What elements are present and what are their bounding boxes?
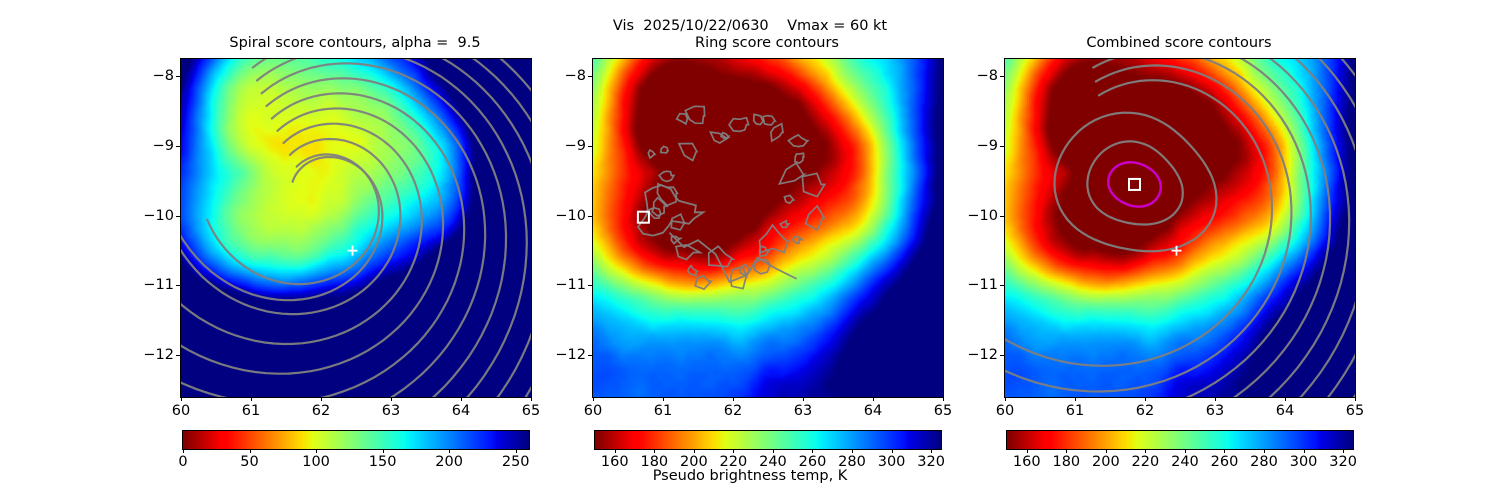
x-tick-label: 63 xyxy=(794,403,812,419)
x-tick-label: 64 xyxy=(1276,403,1294,419)
y-tick-label: −8 xyxy=(960,68,998,84)
y-tick-label: −10 xyxy=(960,208,998,224)
y-tick-label: −8 xyxy=(548,68,586,84)
contour-line xyxy=(1005,59,1330,397)
marker-plus xyxy=(348,246,358,256)
y-tick-mark xyxy=(1000,146,1004,147)
contour-line xyxy=(1005,59,1355,397)
x-tick-label: 63 xyxy=(1206,403,1224,419)
contour-line xyxy=(659,171,674,181)
x-tick-mark xyxy=(663,397,664,401)
x-tick-mark xyxy=(1215,397,1216,401)
x-tick-mark xyxy=(943,397,944,401)
colorbar-combined[interactable] xyxy=(1006,430,1354,450)
contour-line xyxy=(1005,59,1311,397)
contour-line xyxy=(792,237,802,244)
colorbar-tick-mark xyxy=(615,450,616,453)
x-tick-label: 65 xyxy=(934,403,952,419)
x-tick-label: 60 xyxy=(584,403,602,419)
x-tick-label: 61 xyxy=(654,403,672,419)
contour-line xyxy=(788,135,807,147)
colorbar-spiral[interactable] xyxy=(182,430,530,450)
y-tick-mark xyxy=(588,76,592,77)
contour-line xyxy=(648,150,655,158)
colorbar-tick-mark xyxy=(694,450,695,453)
y-tick-label: −11 xyxy=(136,277,174,293)
panel-spiral[interactable] xyxy=(180,58,532,398)
contour-line xyxy=(1005,65,1291,391)
colorbar-tick-mark xyxy=(852,450,853,453)
contour-line xyxy=(181,124,422,344)
y-tick-label: −9 xyxy=(960,138,998,154)
shared-colorbar-xlabel: Pseudo brightness temp, K xyxy=(0,468,1500,484)
contour-line xyxy=(754,114,764,124)
x-tick-label: 64 xyxy=(452,403,470,419)
contour-line xyxy=(784,195,793,203)
contour-line xyxy=(207,154,379,284)
colorbar-tick-mark xyxy=(654,450,655,453)
x-tick-label: 65 xyxy=(522,403,540,419)
contour-line xyxy=(661,147,668,154)
contour-line xyxy=(729,118,749,132)
y-tick-mark xyxy=(588,216,592,217)
x-tick-label: 61 xyxy=(1066,403,1084,419)
contour-line xyxy=(1055,113,1217,252)
figure-suptitle: Vis 2025/10/22/0630 Vmax = 60 kt xyxy=(0,18,1500,34)
colorbar-tick-mark xyxy=(250,450,251,453)
colorbar-tick-mark xyxy=(1343,450,1344,453)
y-tick-label: −8 xyxy=(136,68,174,84)
x-tick-mark xyxy=(251,397,252,401)
x-tick-mark xyxy=(1145,397,1146,401)
contour-line xyxy=(802,173,824,196)
x-tick-mark xyxy=(1285,397,1286,401)
contour-line xyxy=(676,245,700,260)
contour-line xyxy=(677,114,688,124)
y-tick-mark xyxy=(1000,285,1004,286)
x-tick-mark xyxy=(391,397,392,401)
colorbar-tick-mark xyxy=(1264,450,1265,453)
x-tick-mark xyxy=(1005,397,1006,401)
contour-line xyxy=(1108,162,1161,206)
panel-title-ring: Ring score contours xyxy=(592,35,942,51)
y-tick-mark xyxy=(1000,76,1004,77)
contour-line xyxy=(1087,141,1183,224)
x-tick-mark xyxy=(321,397,322,401)
panel-title-combined: Combined score contours xyxy=(1004,35,1354,51)
y-tick-mark xyxy=(176,146,180,147)
x-tick-mark xyxy=(1355,397,1356,401)
colorbar-tick-mark xyxy=(1145,450,1146,453)
y-tick-label: −12 xyxy=(960,347,998,363)
colorbar-tick-mark xyxy=(1106,450,1107,453)
colorbar-tick-mark xyxy=(812,450,813,453)
x-tick-label: 62 xyxy=(312,403,330,419)
contour-line xyxy=(771,124,783,141)
x-tick-label: 64 xyxy=(864,403,882,419)
colorbar-ring[interactable] xyxy=(594,430,942,450)
colorbar-tick-mark xyxy=(773,450,774,453)
y-tick-label: −11 xyxy=(960,277,998,293)
y-tick-mark xyxy=(1000,355,1004,356)
x-tick-mark xyxy=(803,397,804,401)
y-tick-label: −12 xyxy=(136,347,174,363)
contour-line xyxy=(1005,59,1355,397)
x-tick-mark xyxy=(461,397,462,401)
x-tick-mark xyxy=(733,397,734,401)
colorbar-tick-mark xyxy=(383,450,384,453)
colorbar-tick-mark xyxy=(892,450,893,453)
y-tick-mark xyxy=(176,285,180,286)
colorbar-tick-mark xyxy=(449,450,450,453)
y-tick-label: −11 xyxy=(548,277,586,293)
x-tick-label: 65 xyxy=(1346,403,1364,419)
colorbar-tick-mark xyxy=(316,450,317,453)
contour-line xyxy=(1005,80,1272,366)
panel-title-spiral: Spiral score contours, alpha = 9.5 xyxy=(180,35,530,51)
contour-line xyxy=(780,163,805,184)
y-tick-label: −12 xyxy=(548,347,586,363)
x-tick-mark xyxy=(873,397,874,401)
y-tick-label: −10 xyxy=(548,208,586,224)
y-tick-mark xyxy=(588,355,592,356)
contour-line xyxy=(795,153,804,163)
x-tick-label: 62 xyxy=(1136,403,1154,419)
figure-canvas: Vis 2025/10/22/0630 Vmax = 60 kt Spiral … xyxy=(0,0,1500,500)
contour-line xyxy=(181,139,400,314)
contour-line xyxy=(1005,59,1355,397)
contour-line xyxy=(688,266,697,276)
y-tick-mark xyxy=(588,285,592,286)
x-tick-mark xyxy=(1075,397,1076,401)
y-tick-mark xyxy=(176,76,180,77)
contour-line xyxy=(806,206,825,230)
contour-line xyxy=(679,144,697,161)
x-tick-mark xyxy=(593,397,594,401)
y-tick-mark xyxy=(176,216,180,217)
x-tick-label: 60 xyxy=(996,403,1014,419)
contour-line xyxy=(652,198,666,216)
panel-combined[interactable] xyxy=(1004,58,1356,398)
contour-line xyxy=(1005,59,1355,397)
colorbar-tick-mark xyxy=(1027,450,1028,453)
panel-ring[interactable] xyxy=(592,58,944,398)
colorbar-tick-mark xyxy=(733,450,734,453)
contour-line xyxy=(1005,59,1355,397)
colorbar-tick-mark xyxy=(1224,450,1225,453)
colorbar-tick-mark xyxy=(931,450,932,453)
colorbar-tick-mark xyxy=(183,450,184,453)
x-tick-label: 62 xyxy=(724,403,742,419)
colorbar-tick-mark xyxy=(516,450,517,453)
y-tick-label: −9 xyxy=(136,138,174,154)
contour-line xyxy=(780,221,789,228)
contour-line xyxy=(1005,59,1355,397)
colorbar-tick-mark xyxy=(1185,450,1186,453)
y-tick-mark xyxy=(588,146,592,147)
x-tick-label: 60 xyxy=(172,403,190,419)
y-tick-mark xyxy=(1000,216,1004,217)
y-tick-label: −9 xyxy=(548,138,586,154)
x-tick-mark xyxy=(531,397,532,401)
colorbar-tick-mark xyxy=(1304,450,1305,453)
x-tick-label: 61 xyxy=(242,403,260,419)
x-tick-mark xyxy=(181,397,182,401)
contour-line xyxy=(760,225,789,253)
y-tick-label: −10 xyxy=(136,208,174,224)
marker-square xyxy=(1129,179,1140,190)
contour-line xyxy=(685,106,704,123)
contour-line xyxy=(695,276,711,289)
contour-line xyxy=(181,78,485,397)
colorbar-tick-mark xyxy=(1066,450,1067,453)
contour-line xyxy=(181,63,506,397)
x-tick-label: 63 xyxy=(382,403,400,419)
y-tick-mark xyxy=(176,355,180,356)
